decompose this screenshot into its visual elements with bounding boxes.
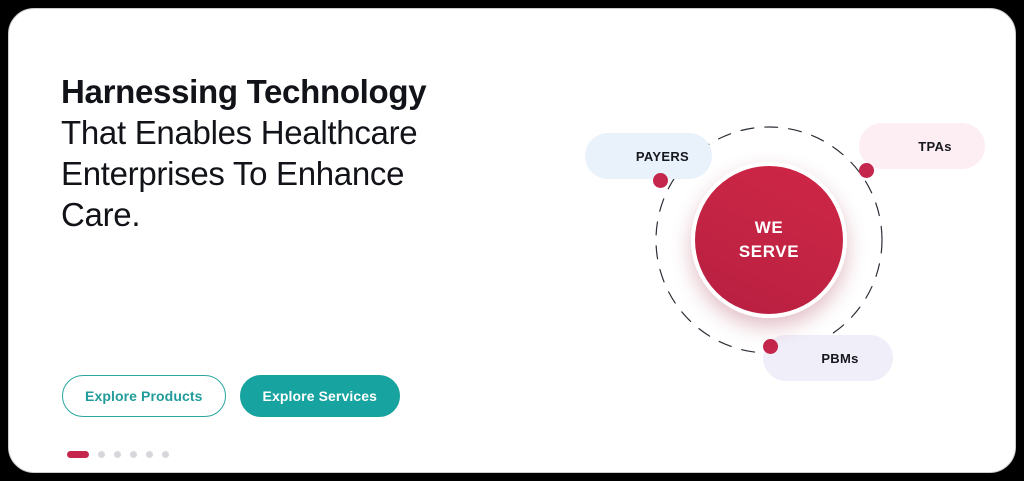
diagram-node-pbms[interactable]: PBMs (763, 335, 893, 381)
carousel-dot-6[interactable] (162, 451, 169, 458)
explore-services-button[interactable]: Explore Services (240, 375, 400, 417)
we-serve-diagram: PAYERS TPAs PBMs WE SERVE (569, 79, 1009, 409)
orbit-dot-payers-icon (653, 173, 668, 188)
carousel-dot-4[interactable] (130, 451, 137, 458)
hero-actions: Explore Products Explore Services (62, 375, 400, 417)
carousel-pagination (67, 451, 169, 458)
explore-products-button[interactable]: Explore Products (62, 375, 226, 417)
diagram-node-payers[interactable]: PAYERS (585, 133, 712, 179)
hero-card: Harnessing Technology That Enables Healt… (8, 8, 1016, 473)
we-serve-center-circle: WE SERVE (691, 162, 847, 318)
diagram-node-tpas[interactable]: TPAs (859, 123, 985, 169)
carousel-dot-1[interactable] (67, 451, 89, 458)
orbit-dot-pbms-icon (763, 339, 778, 354)
carousel-dot-5[interactable] (146, 451, 153, 458)
orbit-dot-tpas-icon (859, 163, 874, 178)
page-title: Harnessing Technology That Enables Healt… (61, 71, 491, 235)
diagram-node-pbms-label: PBMs (821, 351, 858, 366)
carousel-dot-2[interactable] (98, 451, 105, 458)
diagram-node-payers-label: PAYERS (636, 149, 689, 164)
hero-text-block: Harnessing Technology That Enables Healt… (61, 71, 491, 235)
carousel-dot-3[interactable] (114, 451, 121, 458)
headline-line-regular: That Enables Healthcare Enterprises To E… (61, 112, 491, 235)
headline-line-bold: Harnessing Technology (61, 71, 491, 112)
we-serve-line-2: SERVE (739, 240, 799, 264)
diagram-node-tpas-label: TPAs (918, 139, 951, 154)
we-serve-line-1: WE (755, 216, 784, 240)
